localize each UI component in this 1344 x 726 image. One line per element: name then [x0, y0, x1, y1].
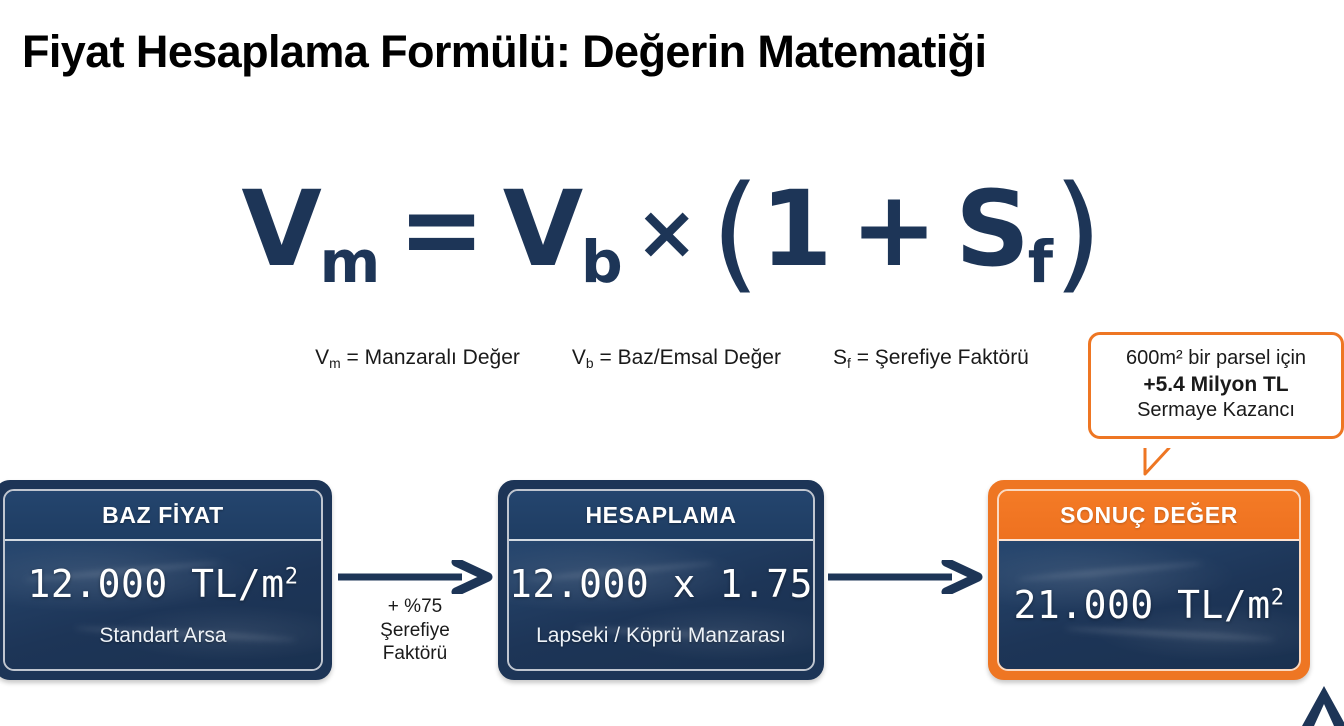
- legend-equals: =: [599, 346, 611, 369]
- card-body-hesaplama: 12.000 x 1.75 Lapseki / Köprü Manzarası: [509, 541, 813, 669]
- card-inner-frame: SONUÇ DEĞER 21.000 TL/m2: [997, 489, 1301, 671]
- formula-equals: =: [398, 168, 485, 290]
- legend-symbol-vb: Vb: [572, 346, 594, 369]
- card-header-baz-fiyat: BAZ FİYAT: [5, 491, 321, 541]
- formula-sf: Sf: [955, 177, 1053, 281]
- page-title: Fiyat Hesaplama Formülü: Değerin Matemat…: [22, 26, 986, 78]
- card-hesaplama: HESAPLAMA 12.000 x 1.75 Lapseki / Köprü …: [498, 480, 824, 680]
- legend-equals: =: [857, 346, 869, 369]
- arrow-baz-to-hesaplama-icon: [336, 560, 494, 594]
- legend-item-sf: Sf = Şerefiye Faktörü: [833, 346, 1029, 370]
- legend-symbol-sf: Sf: [833, 346, 851, 369]
- callout-line-1: 600m² bir parsel için: [1101, 346, 1331, 372]
- arrow-1-label-line-2: Şerefiye: [336, 619, 494, 643]
- card-body-baz-fiyat: 12.000 TL/m2 Standart Arsa: [5, 541, 321, 669]
- legend-symbol-vm: Vm: [315, 346, 341, 369]
- legend-equals: =: [347, 346, 359, 369]
- callout-tail-icon: [1143, 448, 1183, 478]
- arrow-1-label: + %75 Şerefiye Faktörü: [336, 595, 494, 666]
- arrow-1-label-line-1: + %75: [336, 595, 494, 619]
- legend-item-vb: Vb = Baz/Emsal Değer: [572, 346, 781, 370]
- capital-gain-callout: 600m² bir parsel için +5.4 Milyon TL Ser…: [1088, 332, 1344, 439]
- card-header-hesaplama: HESAPLAMA: [509, 491, 813, 541]
- card-value-sonuc-deger: 21.000 TL/m2: [1014, 583, 1285, 627]
- formula-one: 1: [760, 177, 832, 281]
- card-header-sonuc-deger: SONUÇ DEĞER: [999, 491, 1299, 541]
- card-sonuc-deger: SONUÇ DEĞER 21.000 TL/m2: [988, 480, 1310, 680]
- card-inner-frame: HESAPLAMA 12.000 x 1.75 Lapseki / Köprü …: [507, 489, 815, 671]
- arrow-1-label-line-3: Faktörü: [336, 642, 494, 666]
- formula-times: ×: [635, 189, 698, 276]
- card-subtitle-hesaplama: Lapseki / Köprü Manzarası: [536, 624, 786, 648]
- formula-open-paren: (: [711, 158, 761, 306]
- card-subtitle-baz-fiyat: Standart Arsa: [99, 624, 226, 648]
- legend-definition-sf: Şerefiye Faktörü: [875, 346, 1029, 369]
- card-body-sonuc-deger: 21.000 TL/m2: [999, 541, 1299, 669]
- brand-a-mark-icon: [1296, 686, 1344, 726]
- legend-item-vm: Vm = Manzaralı Değer: [315, 346, 520, 370]
- formula-close-paren: ): [1053, 158, 1103, 306]
- card-value-baz-fiyat: 12.000 TL/m2: [28, 562, 299, 606]
- callout-line-2-highlight: +5.4 Milyon TL: [1101, 372, 1331, 399]
- formula-vm: Vm: [241, 177, 380, 281]
- formula-plus: +: [850, 168, 937, 290]
- card-inner-frame: BAZ FİYAT 12.000 TL/m2 Standart Arsa: [3, 489, 323, 671]
- legend-definition-vm: Manzaralı Değer: [365, 346, 520, 369]
- card-value-hesaplama: 12.000 x 1.75: [509, 562, 813, 606]
- legend-definition-vb: Baz/Emsal Değer: [618, 346, 781, 369]
- formula-expression: Vm=Vb×(1+Sf): [0, 158, 1344, 285]
- callout-line-3: Sermaye Kazancı: [1101, 398, 1331, 424]
- card-baz-fiyat: BAZ FİYAT 12.000 TL/m2 Standart Arsa: [0, 480, 332, 680]
- formula-vb: Vb: [503, 177, 623, 281]
- arrow-hesaplama-to-sonuc-icon: [826, 560, 984, 594]
